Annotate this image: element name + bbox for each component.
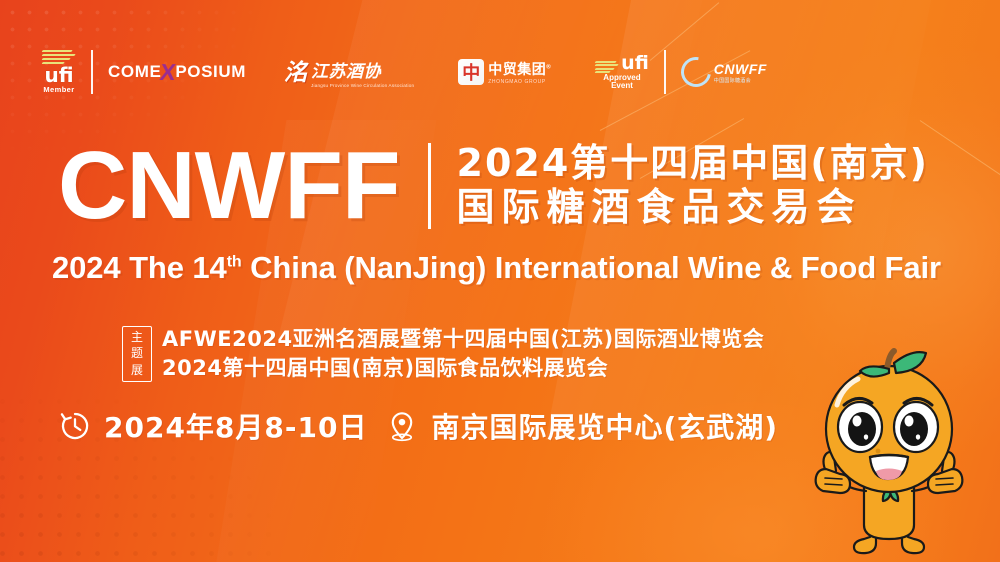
- logo-zhongmao-group: 中 中贸集团® ZHONGMAO GROUP: [458, 59, 551, 85]
- hero-title-block: CNWFF 2024第十四届中国(南京) 国际糖酒食品交易会: [58, 140, 929, 231]
- event-title-cn-line1: 2024第十四届中国(南京): [457, 144, 930, 184]
- cnwff-ring-icon: [675, 51, 717, 93]
- jiangsu-seal-icon: 洺: [284, 61, 307, 84]
- background-hairline-3: [920, 120, 1000, 194]
- logo-divider-2: [664, 50, 666, 94]
- ufi-approved-subtitle-2: Event: [611, 82, 633, 90]
- logo-jiangsu-wine-association: 洺 江苏酒协 Jiangsu Province Wine Circulation…: [284, 57, 414, 88]
- logo-ufi-member: ufi Member: [42, 50, 76, 94]
- ufi-member-wordmark: ufi: [44, 65, 73, 85]
- logo-cnwff-mark: CNWFF 中国国际糖酒会: [681, 57, 767, 87]
- jiangsu-wordmark-en: Jiangsu Province Wine Circulation Associ…: [311, 83, 414, 88]
- badge-char-2: 题: [131, 346, 143, 361]
- orange-mascot: [792, 347, 992, 562]
- logo-comexposium: COME X POSIUM: [108, 59, 246, 86]
- jiangsu-wordmark-cn: 江苏酒协: [311, 57, 414, 82]
- event-venue-item: 南京国际展览中心(玄武湖): [385, 406, 778, 446]
- event-acronym: CNWFF: [58, 140, 400, 231]
- event-venue-text: 南京国际展览中心(玄武湖): [431, 406, 778, 446]
- logo-divider-1: [91, 50, 93, 94]
- badge-char-1: 主: [131, 330, 143, 345]
- zhongmao-registered-icon: ®: [546, 64, 551, 70]
- event-title-cn-line2: 国际糖酒食品交易会: [457, 188, 930, 228]
- ufi-approved-wing-icon: [595, 61, 619, 73]
- sponsor-logo-bar: ufi Member COME X POSIUM 洺 江苏酒协 Jiangsu …: [42, 44, 767, 100]
- logo-ufi-approved-event: ufi Approved Event: [595, 54, 649, 91]
- clock-icon: [58, 409, 92, 443]
- event-title-en-prefix: 2024 The 14: [52, 250, 227, 285]
- ufi-member-subtitle: Member: [43, 86, 74, 94]
- cnwff-mark-subtitle: 中国国际糖酒会: [714, 77, 751, 84]
- event-title-en-ordinal: th: [227, 254, 242, 271]
- hero-vertical-rule: [428, 143, 431, 229]
- location-pin-icon: [385, 409, 419, 443]
- event-title-en-suffix: China (NanJing) International Wine & Foo…: [242, 250, 941, 285]
- themed-exhibition-line-1: AFWE2024亚洲名酒展暨第十四届中国(江苏)国际酒业博览会: [162, 326, 764, 352]
- event-meta-block: 2024年8月8-10日 南京国际展览中心(玄武湖): [58, 406, 778, 446]
- event-poster: ufi Member COME X POSIUM 洺 江苏酒协 Jiangsu …: [0, 0, 1000, 562]
- zhongmao-wordmark-cn: 中贸集团: [488, 61, 546, 77]
- comexposium-part1: COME: [108, 62, 161, 82]
- themed-exhibitions-block: 主 题 展 AFWE2024亚洲名酒展暨第十四届中国(江苏)国际酒业博览会 20…: [122, 326, 764, 382]
- ufi-approved-wordmark: ufi: [621, 54, 649, 74]
- event-date-text: 2024年8月8-10日: [104, 406, 367, 446]
- comexposium-part2: POSIUM: [175, 62, 246, 82]
- event-date-item: 2024年8月8-10日: [58, 406, 367, 446]
- event-title-en: 2024 The 14th China (NanJing) Internatio…: [52, 250, 941, 286]
- ufi-wing-icon: [42, 50, 76, 64]
- zhongmao-dragon-icon: 中: [458, 59, 484, 85]
- zhongmao-wordmark-en: ZHONGMAO GROUP: [488, 79, 551, 85]
- themed-exhibition-badge: 主 题 展: [122, 326, 152, 382]
- badge-char-3: 展: [131, 363, 143, 378]
- themed-exhibition-line-2: 2024第十四届中国(南京)国际食品饮料展览会: [162, 355, 764, 381]
- cnwff-mark-wordmark: CNWFF: [714, 61, 767, 77]
